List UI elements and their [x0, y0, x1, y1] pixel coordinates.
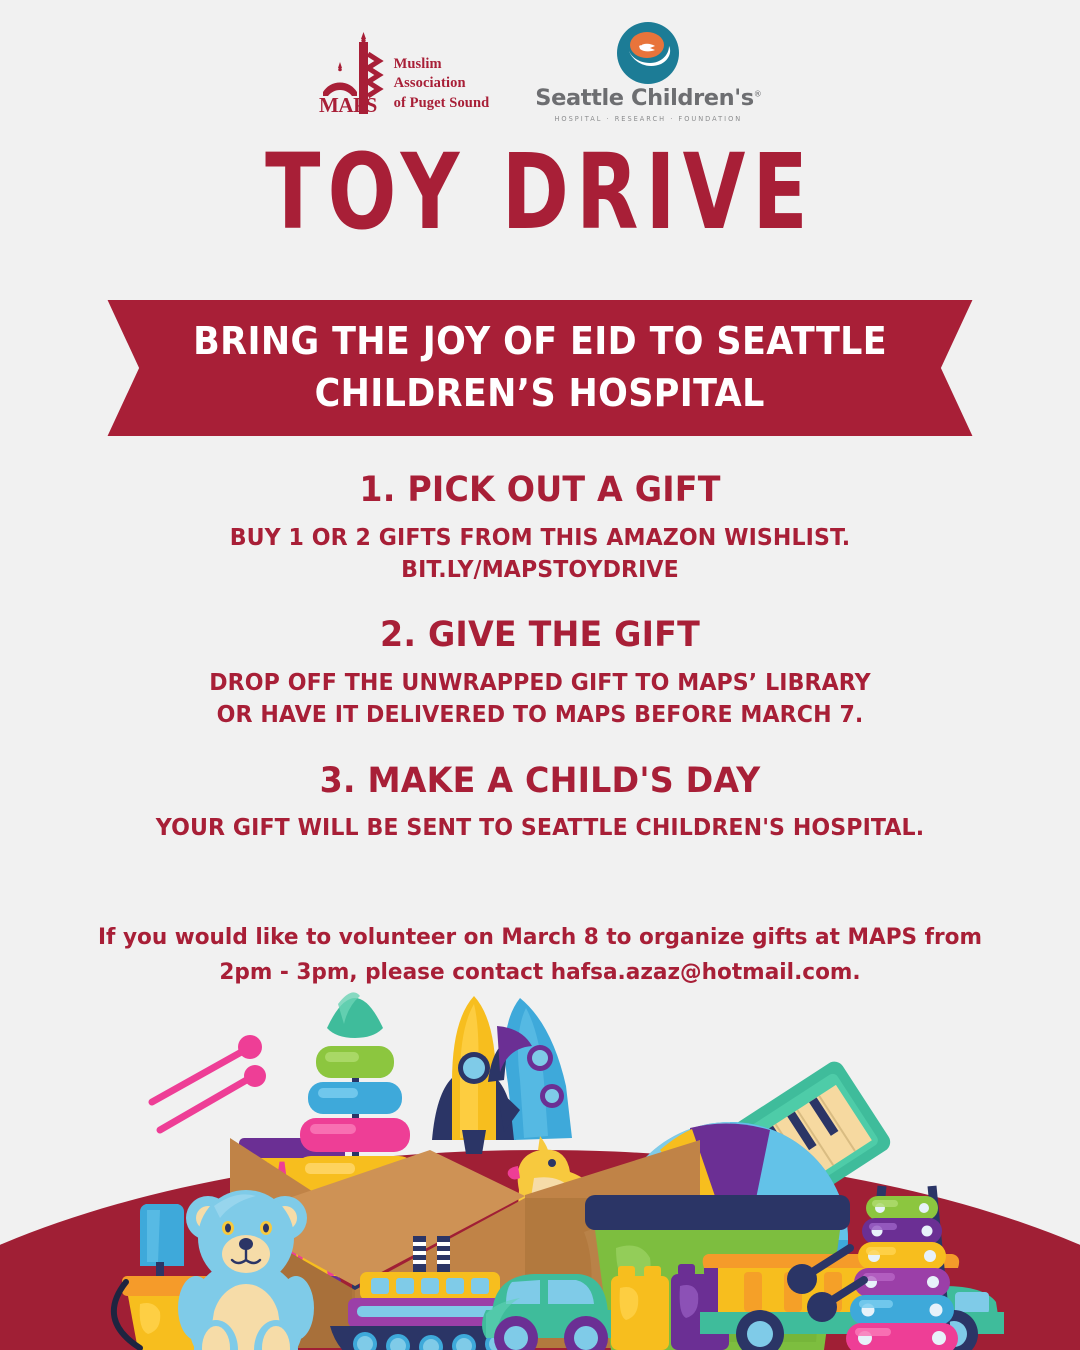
step-2-body-line-2: OR HAVE IT DELIVERED TO MAPS BEFORE MARC…: [32, 698, 1047, 730]
step-3-heading: 3. MAKE A CHILD'S DAY: [27, 759, 1053, 805]
step-3-body-line-1: YOUR GIFT WILL BE SENT TO SEATTLE CHILDR…: [32, 811, 1047, 843]
toys-illustration: [0, 990, 1080, 1350]
sch-name-suffix: 's: [734, 85, 753, 111]
step-1-body-line-1: BUY 1 OR 2 GIFTS FROM THIS AMAZON WISHLI…: [32, 521, 1047, 553]
svg-text:MAPS: MAPS: [319, 93, 377, 116]
maps-line-1: Muslim: [394, 55, 490, 74]
volunteer-note: If you would like to volunteer on March …: [22, 920, 1059, 990]
volunteer-line-1: If you would like to volunteer on March …: [22, 920, 1059, 955]
ribbon-banner: BRING THE JOY OF EID TO SEATTLE CHILDREN…: [76, 300, 1004, 436]
step-1: 1. PICK OUT A GIFT BUY 1 OR 2 GIFTS FROM…: [0, 468, 1080, 585]
page-title: TOY DRIVE: [119, 137, 961, 247]
instruction-steps: 1. PICK OUT A GIFT BUY 1 OR 2 GIFTS FROM…: [0, 468, 1080, 872]
step-2-heading: 2. GIVE THE GIFT: [27, 613, 1053, 659]
maps-logo: MAPS Muslim Association of Puget Sound: [319, 22, 490, 116]
sch-name-text: Seattle Children: [535, 85, 734, 111]
logo-row: MAPS Muslim Association of Puget Sound S…: [0, 22, 1080, 132]
step-1-heading: 1. PICK OUT A GIFT: [27, 468, 1053, 514]
step-1-wishlist-link[interactable]: BIT.LY/MAPSTOYDRIVE: [32, 553, 1047, 585]
step-2: 2. GIVE THE GIFT DROP OFF THE UNWRAPPED …: [0, 613, 1080, 730]
maps-wordmark-text: Muslim Association of Puget Sound: [394, 55, 490, 116]
maps-line-3: of Puget Sound: [394, 94, 490, 113]
ribbon-line-2: CHILDREN’S HOSPITAL: [315, 371, 765, 417]
step-3: 3. MAKE A CHILD'S DAY YOUR GIFT WILL BE …: [0, 759, 1080, 844]
maps-line-2: Association: [394, 74, 490, 93]
sch-trademark: ®: [754, 90, 762, 99]
ribbon-line-1: BRING THE JOY OF EID TO SEATTLE: [193, 319, 887, 365]
volunteer-line-2: 2pm - 3pm, please contact hafsa.azaz@hot…: [22, 955, 1059, 990]
whale-circle-icon: [617, 22, 679, 84]
seattle-childrens-name: Seattle Children's®: [535, 87, 761, 110]
toys-in-cardboard-box-illustration: [0, 990, 1080, 1350]
seattle-childrens-tagline: HOSPITAL · RESEARCH · FOUNDATION: [554, 115, 742, 123]
mosque-dome-minaret-icon: MAPS: [319, 30, 385, 116]
step-2-body-line-1: DROP OFF THE UNWRAPPED GIFT TO MAPS’ LIB…: [32, 666, 1047, 698]
seattle-childrens-logo: Seattle Children's® HOSPITAL · RESEARCH …: [535, 22, 761, 123]
drumsticks-toy: [152, 1035, 266, 1130]
